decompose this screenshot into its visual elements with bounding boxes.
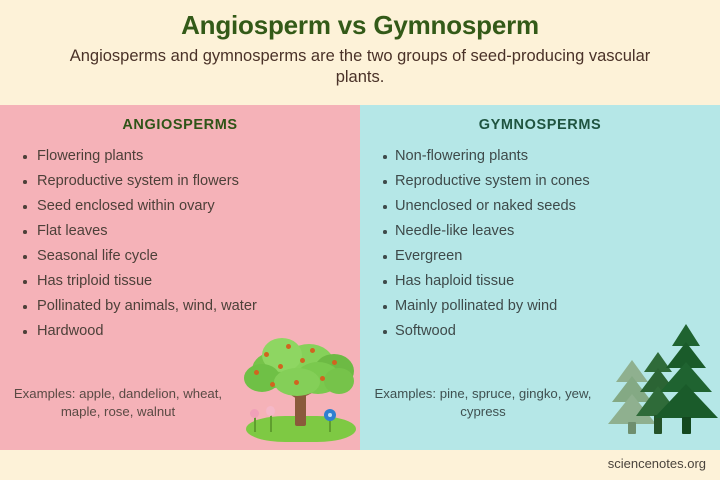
column-heading-angiosperms: ANGIOSPERMS [0,105,360,133]
examples-gymnosperms: Examples: pine, spruce, gingko, yew, cyp… [360,385,600,450]
list-item: Needle-like leaves [380,219,720,244]
apple-fruit [270,382,275,387]
apple-fruit [264,352,269,357]
comparison-panels: ANGIOSPERMS Flowering plants Reproductiv… [0,105,720,450]
list-item: Evergreen [380,244,720,269]
apple-fruit [310,348,315,353]
feature-list-angiosperms: Flowering plants Reproductive system in … [0,144,360,344]
list-item: Unenclosed or naked seeds [380,194,720,219]
apple-fruit [286,344,291,349]
page-title: Angiosperm vs Gymnosperm [0,0,720,40]
examples-angiosperms: Examples: apple, dandelion, wheat, maple… [0,385,232,450]
list-item: Has triploid tissue [20,269,360,294]
apple-fruit [300,358,305,363]
column-heading-gymnosperms: GYMNOSPERMS [360,105,720,133]
list-item: Pollinated by animals, wind, water [20,294,360,319]
list-item: Seasonal life cycle [20,244,360,269]
footer-bar: sciencenotes.org [0,450,720,480]
list-item: Seed enclosed within ovary [20,194,360,219]
apple-fruit [278,364,283,369]
panel-gymnosperms: GYMNOSPERMS Non-flowering plants Reprodu… [360,105,720,450]
apple-fruit [320,376,325,381]
list-item: Flowering plants [20,144,360,169]
list-item: Reproductive system in cones [380,169,720,194]
list-item: Reproductive system in flowers [20,169,360,194]
list-item: Non-flowering plants [380,144,720,169]
list-item: Has haploid tissue [380,269,720,294]
apple-fruit [294,380,299,385]
list-item: Mainly pollinated by wind [380,294,720,319]
apple-fruit [332,360,337,365]
header-banner: Angiosperm vs Gymnosperm Angiosperms and… [0,0,720,105]
page-subtitle: Angiosperms and gymnosperms are the two … [60,46,660,90]
conifer-trees-icon [608,322,718,442]
feature-list-gymnosperms: Non-flowering plants Reproductive system… [360,144,720,344]
apple-tree-icon [240,334,360,442]
infographic-page: Angiosperm vs Gymnosperm Angiosperms and… [0,0,720,480]
apple-fruit [254,370,259,375]
source-credit: sciencenotes.org [608,456,706,471]
list-item: Flat leaves [20,219,360,244]
panel-angiosperms: ANGIOSPERMS Flowering plants Reproductiv… [0,105,360,450]
